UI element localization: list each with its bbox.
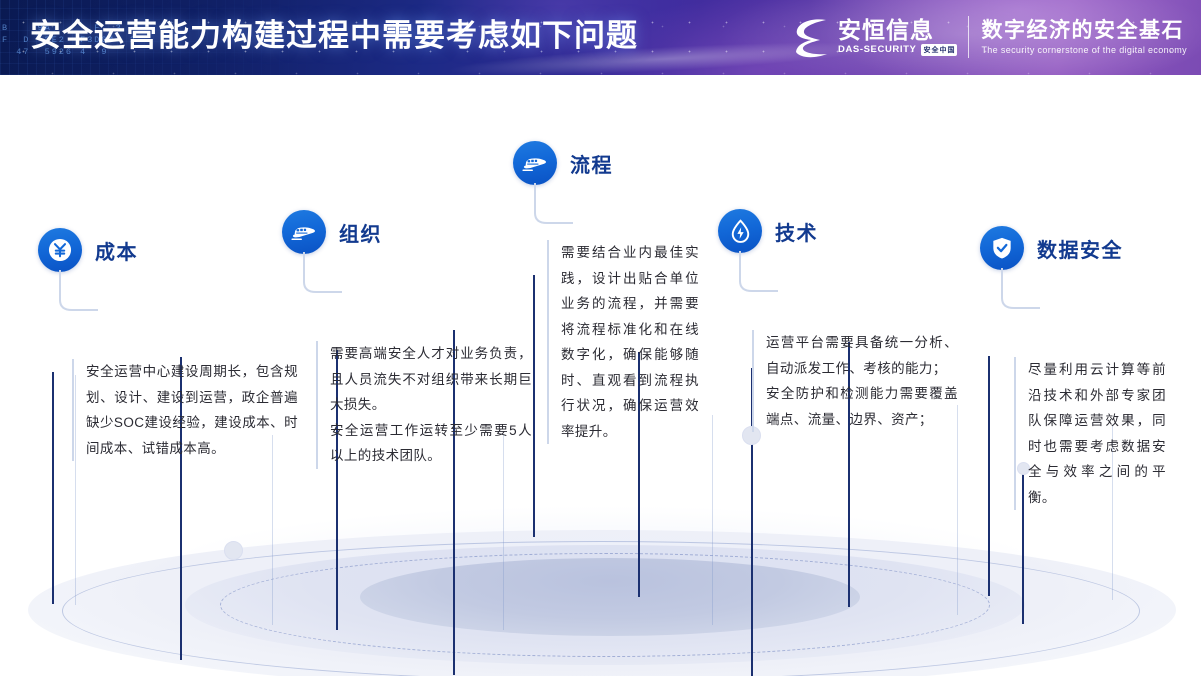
stage-pole-faint <box>957 405 958 615</box>
high-speed-train-icon <box>513 141 557 185</box>
card-connector <box>302 252 342 306</box>
card-body: 需要结合业内最佳实践，设计出贴合单位业务的流程，并需要将流程标准化和在线数字化，… <box>547 240 699 444</box>
brand-divider <box>968 16 969 58</box>
shield-check-icon <box>980 226 1024 270</box>
brand-tagline-column: 数字经济的安全基石 The security cornerstone of th… <box>981 19 1187 55</box>
page-title: 安全运营能力构建过程中需要考虑如下问题 <box>30 10 638 55</box>
brand-lockup: 安恒信息 DAS-SECURITY 安全中国 数字经济的安全基石 The sec… <box>790 7 1187 67</box>
stage-pole <box>988 356 990 596</box>
card-title: 技术 <box>775 217 818 246</box>
card-header: 组织 <box>282 210 382 254</box>
brand-en-name: DAS-SECURITY <box>838 44 916 55</box>
high-speed-train-icon <box>282 210 326 254</box>
card-data-security[interactable]: 数据安全 尽量利用云计算等前沿技术和外部专家团队保障运营效果，同时也需要考虑数据… <box>980 226 1123 270</box>
card-body: 尽量利用云计算等前沿技术和外部专家团队保障运营效果，同时也需要考虑数据安全与效率… <box>1014 357 1166 510</box>
card-header: 成本 <box>38 228 138 272</box>
das-security-swoosh-logo <box>790 14 834 60</box>
card-technology[interactable]: 技术 运营平台需要具备统一分析、自动派发工作、考核的能力； 安全防护和检测能力需… <box>718 209 818 253</box>
card-body: 安全运营中心建设周期长，包含规划、设计、建设到运营，政企普遍缺少SOC建设经验，… <box>72 359 298 461</box>
pole-cap <box>224 541 243 560</box>
card-header: 流程 <box>513 141 613 185</box>
tagline-cn: 数字经济的安全基石 <box>981 19 1187 43</box>
stage-pole <box>533 275 535 537</box>
card-title: 数据安全 <box>1037 234 1123 263</box>
card-body: 需要高端安全人才对业务负责，且人员流失不对组织带来长期巨大损失。 安全运营工作运… <box>316 341 532 469</box>
stage-pole-faint <box>272 435 273 625</box>
card-title: 流程 <box>570 149 613 178</box>
card-header: 数据安全 <box>980 226 1123 270</box>
brand-cn-name: 安恒信息 <box>838 18 957 43</box>
card-connector <box>58 270 98 324</box>
card-body: 运营平台需要具备统一分析、自动派发工作、考核的能力； 安全防护和检测能力需要覆盖… <box>752 330 958 432</box>
card-connector <box>1000 268 1040 322</box>
yen-currency-icon <box>38 228 82 272</box>
content-stage: 成本 安全运营中心建设周期长，包含规划、设计、建设到运营，政企普遍缺少SOC建设… <box>0 75 1201 676</box>
card-process[interactable]: 流程 需要结合业内最佳实践，设计出贴合单位业务的流程，并需要将流程标准化和在线数… <box>513 141 613 185</box>
card-title: 成本 <box>95 236 138 265</box>
stage-pole-faint <box>712 415 713 625</box>
header-banner: B 9A F 3 F D 3E2 F3D04 2 47 5926 4 9 安全运… <box>0 0 1201 75</box>
card-connector <box>738 251 778 305</box>
card-organization[interactable]: 组织 需要高端安全人才对业务负责，且人员流失不对组织带来长期巨大损失。 安全运营… <box>282 210 382 254</box>
brand-name-column: 安恒信息 DAS-SECURITY 安全中国 <box>838 18 968 56</box>
stage-pole <box>52 372 54 604</box>
card-title: 组织 <box>339 218 382 247</box>
card-cost[interactable]: 成本 安全运营中心建设周期长，包含规划、设计、建设到运营，政企普遍缺少SOC建设… <box>38 228 138 272</box>
tagline-en: The security cornerstone of the digital … <box>981 45 1187 55</box>
card-connector <box>533 183 573 237</box>
droplet-lightning-icon <box>718 209 762 253</box>
brand-cn-subtag: 安全中国 <box>921 44 957 56</box>
podium-inner-disc <box>360 558 860 636</box>
card-header: 技术 <box>718 209 818 253</box>
